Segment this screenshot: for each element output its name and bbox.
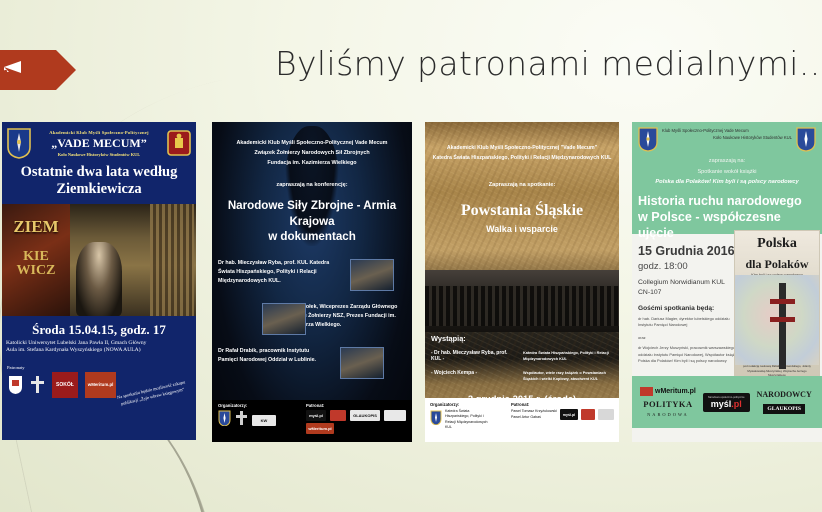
poster1-title-line2: Ziemkiewicza (5, 181, 193, 198)
poster2-invite: zapraszają na konferencję: (212, 182, 412, 188)
poster3-footer: Organizatorzy: Katedra Świata Hiszpański… (425, 398, 619, 442)
megaphone-banner (0, 50, 76, 90)
poster4-date: 15 Grudnia 2016 (638, 244, 738, 258)
poster-historia-ruchu-narodowego[interactable]: Klub Myśli Społeczno-Politycznej Vade Me… (632, 122, 822, 442)
poster2-footer: Organizatorzy: KW Patronat: myśl.pl GLAU (212, 400, 412, 442)
poster3-organizer-row: Katedra Świata Hiszpańskiego, Polityki i… (430, 409, 489, 431)
poster1-photo-organ-pipes (150, 204, 194, 316)
poster1-header: Akademicki Klub Myśli Społeczno-Politycz… (2, 122, 196, 159)
polityka-narodowa-logo: POLITYKA (643, 399, 692, 409)
wmeritum-flag-icon (640, 387, 653, 396)
poster3-speakers-label: Wystąpią: (431, 334, 466, 343)
poster4-venue-line1: Collegium Norwidianum KUL (638, 278, 738, 288)
poster4-org-header: Klub Myśli Społeczno-Politycznej Vade Me… (632, 122, 822, 152)
kul-crest-icon (166, 127, 192, 159)
poster4-guest-1: dr hab. Dariusz Magier, dyrektor lubelsk… (638, 316, 738, 329)
poster4-invite-line2: Spotkanie wokół książki (632, 167, 822, 178)
poster4-book-sword-icon (779, 283, 786, 369)
poster2-title-line2: w dokumentach (212, 229, 412, 245)
poster2-organizers: Organizatorzy: KW (218, 403, 276, 439)
poster4-guests-label: Gośćmi spotkania będą: (638, 305, 738, 312)
page-title: Byliśmy patronami medialnymi... (275, 44, 820, 83)
poster3-org-block: Akademicki Klub Myśli Społeczno-Politycz… (425, 122, 619, 164)
poster1-org-line2: „VADE MECUM” (32, 136, 166, 151)
poster2-speaker-1: Dr hab. Mieczysław Ryba, prof. KUL Kated… (212, 259, 412, 289)
extra-patron-logo (384, 410, 406, 421)
wmeritum-label: wMeritum.pl (655, 388, 696, 395)
poster2-patron-logos-row2: wMeritum.pl (306, 423, 406, 434)
poster-ziemkiewicz[interactable]: Akademicki Klub Myśli Społeczno-Politycz… (2, 122, 196, 440)
poster3-title-line1: Powstania Śląskie (425, 202, 619, 220)
megaphone-icon (0, 60, 22, 81)
wmeritum-logo: wMeritum.pl (85, 372, 117, 398)
poster2-patrons-label: Patronat: (306, 403, 406, 408)
mysl-logo: myśl.pl (560, 409, 578, 420)
poster4-invite: zapraszają na: Spotkanie wokół książki P… (632, 156, 822, 188)
poster3-invite: Zapraszają na spotkanie: (425, 182, 619, 188)
vade-mecum-crest-icon (218, 410, 231, 431)
poster2-org-block: Akademicki Klub Myśli Społeczno-Politycz… (212, 122, 412, 168)
poster1-date: Środa 15.04.15, godz. 17 (2, 322, 196, 338)
poster2-speaker-2-photo (262, 303, 306, 335)
poster2-title: Narodowe Siły Zbrojne - Armia Krajowa w … (212, 198, 412, 245)
poster4-guest-2: dr Wojciech Jerzy Muszyński, pracownik w… (638, 345, 738, 364)
poster2-speaker-3-photo (340, 347, 384, 379)
mysl-main-label: myśl.pl (708, 399, 745, 409)
poster3-speaker-2: - Wojciech Kempa - Współautor, wiele raz… (431, 370, 613, 382)
kul-crest-icon (796, 127, 816, 152)
poster2-patron-logos-row1: myśl.pl GLAUKOPIS (306, 410, 406, 421)
poster4-guest-separator: oraz (638, 335, 738, 341)
poster4-org-line1: Klub Myśli Społeczno-Politycznej Vade Me… (662, 127, 792, 134)
poster1-title-line1: Ostatnie dwa lata według (5, 164, 193, 181)
poster4-invite-line1: zapraszają na: (632, 156, 822, 167)
poster2-organizers-label: Organizatorzy: (218, 403, 276, 408)
poster2-content: Akademicki Klub Myśli Społeczno-Politycz… (212, 122, 412, 442)
poster1-book-title2: KIE WICZ (5, 250, 67, 278)
poster1-patrons-label: Patronaty (2, 355, 196, 371)
poster4-title-line1: Historia ruchu narodowego (638, 194, 816, 210)
poster3-patrons-label: Patronat: (511, 402, 614, 407)
cross-logo-icon (30, 374, 45, 396)
slide-canvas: Byliśmy patronami medialnymi... Akademic… (0, 0, 822, 512)
vade-mecum-crest-icon (6, 127, 32, 159)
poster4-patron-group-1: wMeritum.pl POLITYKA NARODOWA (640, 387, 696, 417)
poster4-details: 15 Grudnia 2016 godz. 18:00 Collegium No… (632, 240, 744, 368)
wmeritum-logo: wMeritum.pl (640, 387, 696, 396)
poster4-book-cover: Polska dla Polaków Kim byli i są polscy … (734, 230, 820, 380)
fundacja-kw-logo: KW (252, 415, 276, 426)
poster3-speaker-2-name: - Wojciech Kempa - (431, 370, 517, 382)
poster3-patron-text: Pawel Tomasz Krzyżukowski Pawel Artur Ga… (511, 409, 557, 420)
poster4-time: godz. 18:00 (638, 261, 738, 272)
poster4-org-block: Klub Myśli Społeczno-Politycznej Vade Me… (662, 127, 792, 141)
kul-crest-logo-icon (8, 374, 23, 396)
poster4-venue: Collegium Norwidianum KUL CN-107 (638, 278, 738, 298)
glaukopis-logo: GLAUKOPIS (763, 404, 805, 414)
vade-mecum-crest-icon (430, 410, 442, 430)
poster3-organizer-text: Katedra Świata Hiszpańskiego, Polityki i… (445, 409, 489, 431)
poster4-venue-line2: CN-107 (638, 288, 738, 298)
poster3-organizers: Organizatorzy: Katedra Świata Hiszpański… (430, 402, 489, 438)
poster3-speaker-1-aff: Katedra Świata Hiszpańskiego, Polityki i… (523, 350, 613, 362)
poster3-speaker-2-aff: Współautor, wiele razy książek o Powstan… (523, 370, 613, 382)
poster4-book-title-line1: Polska (735, 231, 819, 252)
vade-mecum-crest-icon (638, 127, 658, 152)
mysl-logo: myśl.pl (306, 410, 326, 421)
polityka-narodowa-sub: NARODOWA (647, 412, 689, 417)
poster2-title-line1: Narodowe Siły Zbrojne - Armia Krajowa (212, 198, 412, 229)
poster3-speaker-1-name: - Dr hab. Mieczysław Ryba, prof. KUL - (431, 350, 517, 362)
mysl-word: myśl (711, 399, 732, 409)
poster4-patron-footer: wMeritum.pl POLITYKA NARODOWA Narodowo-s… (632, 376, 822, 428)
poster3-soldiers-photo (425, 270, 619, 332)
poster2-org-line1: Akademicki Klub Myśli Społeczno-Politycz… (212, 138, 412, 148)
poster1-photo-person (76, 242, 122, 316)
poster3-patron-text-1: Pawel Tomasz Krzyżukowski (511, 409, 557, 413)
poster3-soldiers-rank (425, 286, 619, 326)
poster1-venue: Katolicki Uniwersytet Lubelski Jana Pawł… (2, 338, 196, 355)
poster3-patron-row: Pawel Tomasz Krzyżukowski Pawel Artur Ga… (511, 409, 614, 420)
poster1-org-block: Akademicki Klub Myśli Społeczno-Politycz… (32, 130, 166, 157)
poster3-patron-text-2: Pawel Artur Gabaś (511, 415, 541, 419)
mysl-pl-logo: Narodowo-społeczno-polityczne myśl.pl (703, 393, 750, 412)
kresy-logo (330, 410, 346, 421)
poster1-image-row: ZIEM KIE WICZ (2, 204, 196, 316)
glaukopis-logo: GLAUKOPIS (350, 410, 380, 421)
poster2-speaker-3: Dr Rafał Drabik, pracownik Instytutu Pam… (212, 347, 412, 377)
poster3-content: Akademicki Klub Myśli Społeczno-Politycz… (425, 122, 619, 234)
nsz-cross-logo-icon (235, 410, 248, 431)
poster2-org-line3: Fundacja im. Kazimierza Wielkiego (212, 158, 412, 168)
poster3-speaker-1: - Dr hab. Mieczysław Ryba, prof. KUL - K… (431, 350, 613, 362)
poster3-title-line2: Walka i wsparcie (425, 224, 619, 234)
poster1-org-line3: Koło Naukowe Historyków Studentów KUL (32, 152, 166, 157)
poster2-speaker-1-photo (350, 259, 394, 291)
poster1-org-line1: Akademicki Klub Myśli Społeczno-Politycz… (32, 130, 166, 135)
wmeritum-logo (581, 409, 595, 420)
poster4-org-line2: Koło Naukowe Historyków Studentów KUL (662, 134, 792, 141)
poster4-book-title-line2: dla Polaków (735, 252, 819, 271)
wmeritum-logo: wMeritum.pl (306, 423, 334, 434)
poster4-patron-group-2: NARODOWCY GLAUKOPIS (757, 390, 812, 414)
poster1-book-title1: ZIEM (5, 218, 67, 235)
sokol-logo: SOKÓŁ (52, 372, 78, 398)
poster3-org-line2: Katedra Świata Hiszpańskiego, Polityki i… (425, 154, 619, 164)
poster1-venue-line2: Aula im. Stefana Kardynała Wyszyńskiego … (6, 347, 192, 355)
glaukopis-logo (598, 409, 614, 420)
poster3-org-line1: Akademicki Klub Myśli Społeczno-Politycz… (425, 144, 619, 154)
poster2-organizer-logos: KW (218, 410, 276, 431)
narodowcy-logo: NARODOWCY (757, 390, 812, 399)
poster-nsz-ak[interactable]: Akademicki Klub Myśli Społeczno-Politycz… (212, 122, 412, 442)
poster2-speaker-3-text: Dr Rafał Drabik, pracownik Instytutu Pam… (212, 347, 330, 366)
poster2-patrons: Patronat: myśl.pl GLAUKOPIS wMeritum.pl (306, 403, 406, 439)
poster2-speaker-2: Karol Wołek, Wiceprezes Zarządu Głównego… (212, 303, 412, 333)
poster4-invite-line3: Polska dla Polaków! Kim byli i są polscy… (632, 177, 822, 188)
poster3-patrons: Patronat: Pawel Tomasz Krzyżukowski Pawe… (511, 402, 614, 438)
poster1-title: Ostatnie dwa lata według Ziemkiewicza (2, 164, 196, 198)
poster3-organizers-label: Organizatorzy: (430, 402, 489, 407)
mysl-tld: .pl (731, 399, 742, 409)
poster1-photo (70, 204, 196, 316)
poster-powstania-slaskie[interactable]: Akademicki Klub Myśli Społeczno-Politycz… (425, 122, 619, 442)
poster1-book-cover: ZIEM KIE WICZ (2, 204, 70, 316)
poster2-org-line2: Związek Żołnierzy Narodowych Sił Zbrojny… (212, 148, 412, 158)
poster2-speaker-1-text: Dr hab. Mieczysław Ryba, prof. KUL Kated… (212, 259, 334, 287)
